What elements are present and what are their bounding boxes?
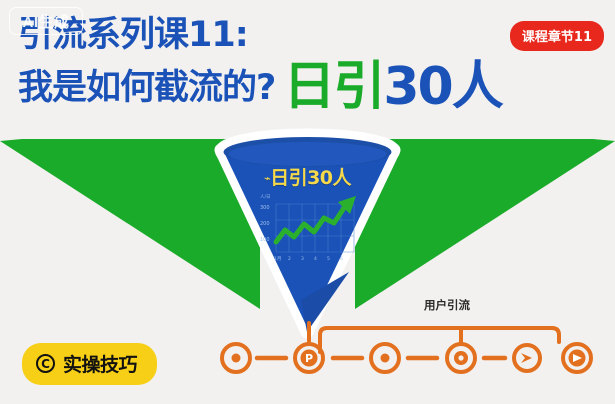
svg-text:6: 6 xyxy=(340,256,343,262)
svg-text:100: 100 xyxy=(260,237,270,243)
chapter-badge: 课程章节11 xyxy=(510,21,604,51)
headline-highlight-green: 日引 xyxy=(283,65,383,109)
funnel-growth-chart: 人/日 300 200 100 1月 xyxy=(258,190,368,272)
svg-text:200: 200 xyxy=(260,221,270,227)
svg-text:3: 3 xyxy=(301,256,304,262)
funnel-label-text: 日引30人 xyxy=(270,167,351,189)
svg-text:5: 5 xyxy=(327,256,330,262)
svg-text:4: 4 xyxy=(314,256,317,262)
headline-highlight-blue: 30人 xyxy=(383,65,501,109)
funnel-label: ⌁日引30人 xyxy=(0,163,615,190)
poster-canvas: AI生成 人/日 300 200 100 xyxy=(0,0,615,404)
headline-line-2-row: 我是如何截流的? 日引 30人 xyxy=(18,60,502,106)
svg-text:人/日: 人/日 xyxy=(260,194,271,200)
flow-label: 用户引流 xyxy=(424,297,470,313)
svg-text:1月: 1月 xyxy=(274,256,281,262)
headline-line-1: 引流系列课11: xyxy=(18,18,502,53)
headline-line-2: 我是如何截流的? xyxy=(18,71,275,106)
practical-tips-pill: C 实操技巧 xyxy=(22,343,157,385)
ai-generated-watermark: AI生成 xyxy=(9,7,83,35)
pill-label: 实操技巧 xyxy=(63,350,137,377)
page-title: 引流系列课11: 我是如何截流的? 日引 30人 xyxy=(18,18,502,106)
svg-text:P: P xyxy=(305,352,313,365)
svg-text:300: 300 xyxy=(260,205,270,211)
svg-text:2: 2 xyxy=(288,256,291,262)
copyright-icon: C xyxy=(36,354,55,373)
